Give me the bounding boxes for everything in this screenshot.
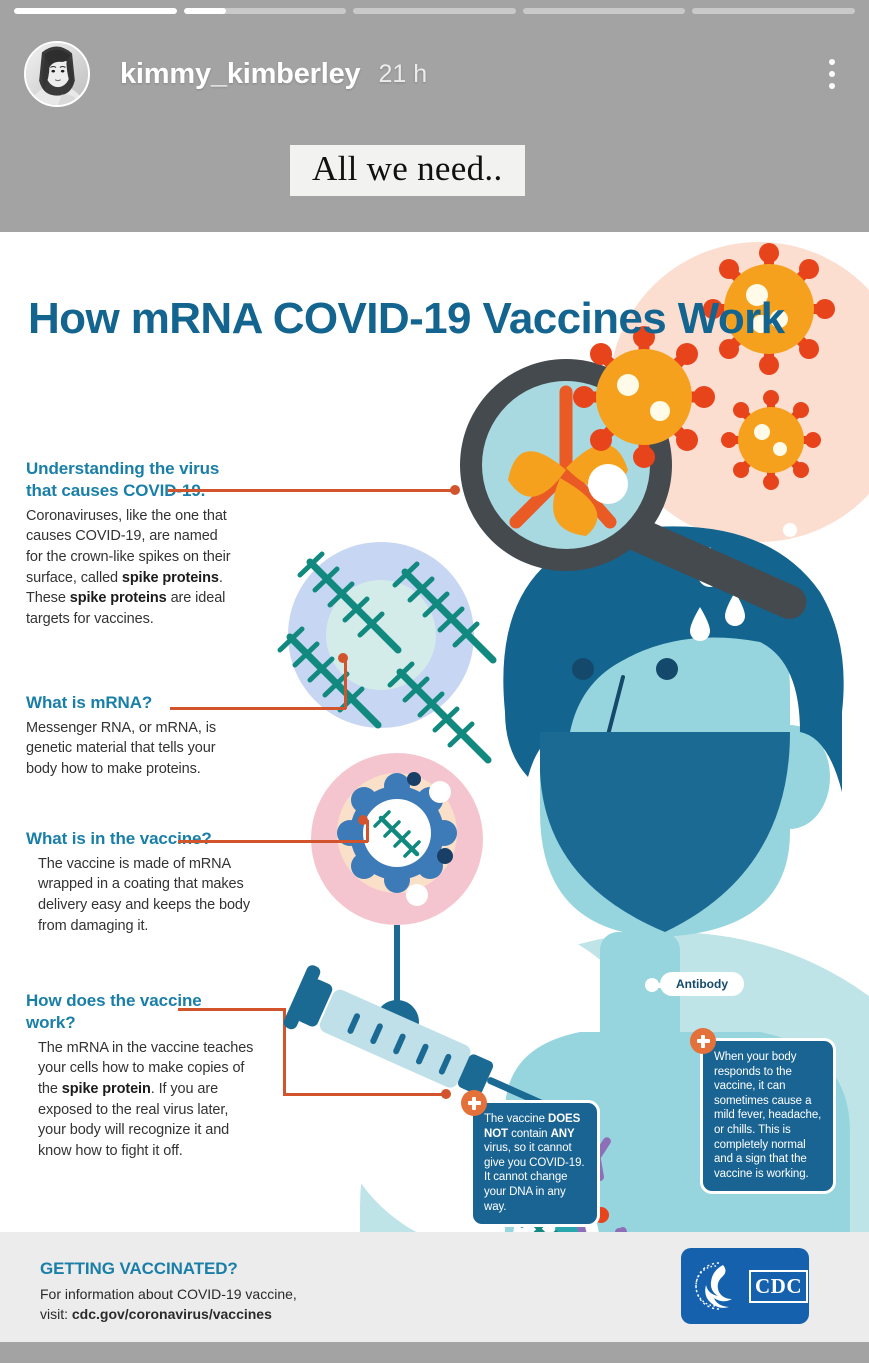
story-header: kimmy_kimberley 21 h	[0, 34, 869, 114]
avatar-photo-icon	[26, 43, 88, 105]
callout-no-virus: The vaccine DOES NOT contain ANY virus, …	[470, 1100, 600, 1227]
antibody-label: Antibody	[660, 972, 744, 996]
story-progress-segment-4[interactable]	[523, 8, 686, 14]
footer-url[interactable]: cdc.gov/coronavirus/vaccines	[72, 1306, 272, 1322]
instagram-story-viewer[interactable]: kimmy_kimberley 21 h All we need.. How m…	[0, 0, 869, 1363]
story-progress-segment-1[interactable]	[14, 8, 177, 14]
more-options-icon[interactable]	[817, 54, 847, 94]
dot-3	[829, 83, 835, 89]
avatar[interactable]	[24, 41, 90, 107]
hhs-seal-icon	[689, 1257, 745, 1315]
story-bottom-bar	[0, 1342, 869, 1363]
cdc-logo: CDC	[681, 1248, 809, 1324]
plus-badge-body-response	[690, 1028, 716, 1054]
story-media-infographic[interactable]: How mRNA COVID-19 Vaccines Work	[0, 232, 869, 1232]
callout-no-virus-text: The vaccine DOES NOT contain ANY virus, …	[484, 1113, 584, 1213]
callout-body-response: When your body responds to the vaccine, …	[700, 1038, 836, 1194]
caption-sticker[interactable]: All we need..	[290, 145, 525, 196]
dot-1	[829, 59, 835, 65]
callout-body-response-text: When your body responds to the vaccine, …	[714, 1051, 821, 1180]
timestamp: 21 h	[378, 60, 427, 89]
username[interactable]: kimmy_kimberley	[120, 58, 360, 91]
footer-heading: GETTING VACCINATED?	[40, 1259, 238, 1279]
plus-badge-no-virus	[461, 1090, 487, 1116]
infographic-footer: GETTING VACCINATED? For information abou…	[0, 1232, 869, 1342]
footer-text: For information about COVID-19 vaccine, …	[40, 1284, 297, 1325]
story-progress-bars	[14, 8, 855, 14]
story-progress-segment-3[interactable]	[353, 8, 516, 14]
story-progress-segment-5[interactable]	[692, 8, 855, 14]
caption-text: All we need..	[312, 149, 503, 188]
footer-line-1: For information about COVID-19 vaccine,	[40, 1286, 297, 1302]
dot-2	[829, 71, 835, 77]
cdc-wordmark: CDC	[749, 1270, 808, 1303]
story-progress-segment-2[interactable]	[184, 8, 347, 14]
footer-line-2-prefix: visit:	[40, 1306, 72, 1322]
